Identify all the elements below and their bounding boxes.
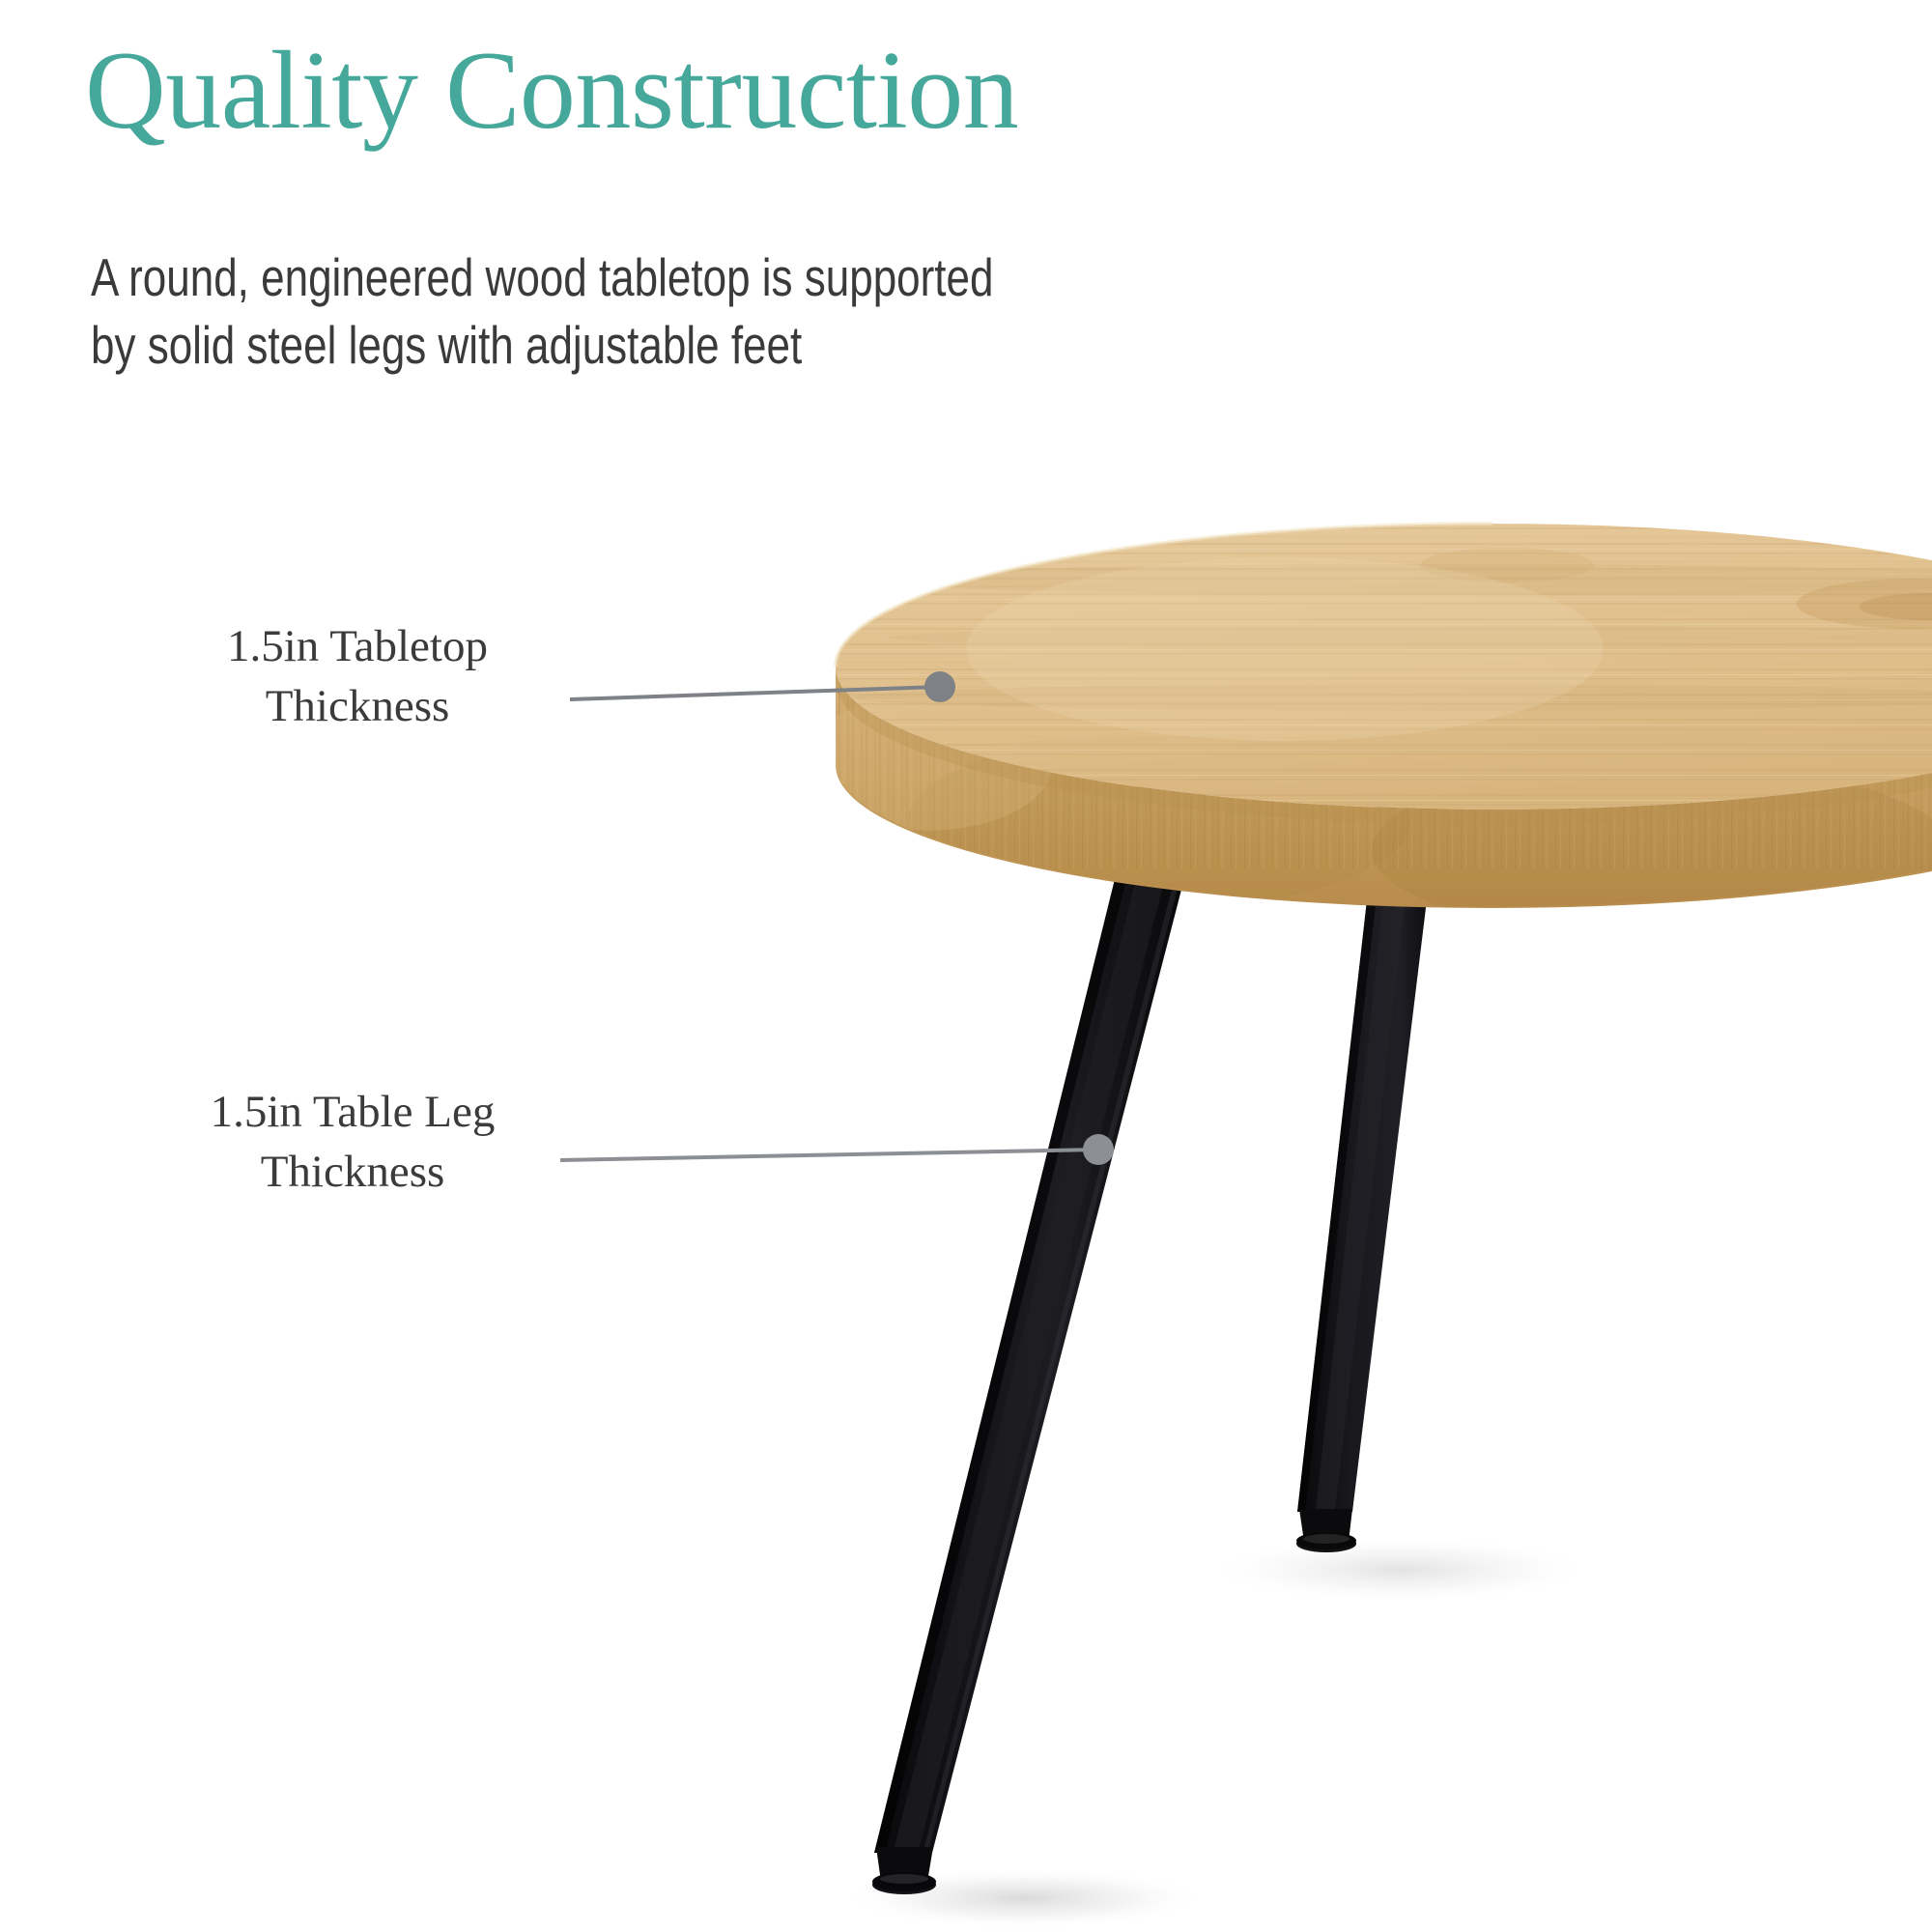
callout-leg-thickness: 1.5in Table Leg Thickness	[135, 1082, 570, 1202]
subtitle-line-2: by solid steel legs with adjustable feet	[91, 315, 802, 375]
subtitle-line-1: A round, engineered wood tabletop is sup…	[91, 247, 993, 307]
callout-tabletop-thickness: 1.5in Tabletop Thickness	[145, 616, 570, 736]
page-subtitle: A round, engineered wood tabletop is sup…	[91, 243, 993, 380]
table-leg-front	[872, 778, 1210, 1894]
page-title: Quality Construction	[85, 35, 1018, 147]
callout-leg-line-1: 1.5in Table Leg	[211, 1087, 496, 1137]
callout-tabletop-line-1: 1.5in Tabletop	[227, 621, 488, 671]
callout-leg-line-2: Thickness	[261, 1147, 445, 1197]
infographic-canvas: Quality Construction A round, engineered…	[0, 0, 1932, 1932]
callout-tabletop-line-2: Thickness	[266, 681, 450, 731]
